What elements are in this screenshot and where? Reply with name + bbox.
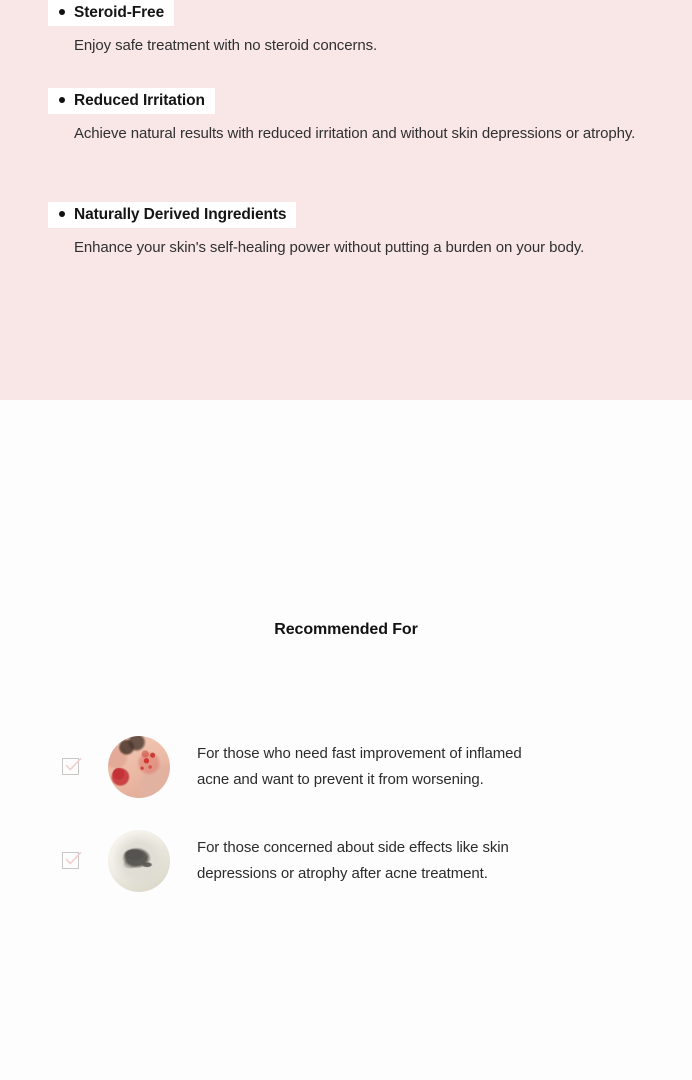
inflamed-acne-face-photo bbox=[108, 736, 170, 798]
benefit-heading-highlight: Steroid-Free bbox=[48, 0, 174, 26]
list-item: For those concerned about side effects l… bbox=[0, 814, 692, 908]
list-item-text-line: acne and want to prevent it from worseni… bbox=[197, 767, 627, 793]
product-detail-page: Steroid-Free Enjoy safe treatment with n… bbox=[0, 0, 692, 1080]
benefit-body-text: Enhance your skin's self-healing power w… bbox=[74, 234, 594, 262]
list-item-text-line: depressions or atrophy after acne treatm… bbox=[197, 861, 627, 887]
benefit-body-text: Enjoy safe treatment with no steroid con… bbox=[74, 32, 690, 60]
recommended-for-section: Recommended For For those who need fast … bbox=[0, 400, 692, 1080]
bullet-dot-icon bbox=[59, 9, 65, 15]
benefit-item: Reduced Irritation Achieve natural resul… bbox=[0, 88, 692, 148]
benefit-heading-label: Reduced Irritation bbox=[74, 91, 205, 110]
benefit-heading-label: Naturally Derived Ingredients bbox=[74, 205, 286, 224]
bullet-dot-icon bbox=[59, 97, 65, 103]
bullet-dot-icon bbox=[59, 211, 65, 217]
benefit-heading-label: Steroid-Free bbox=[74, 3, 164, 22]
recommended-for-list: For those who need fast improvement of i… bbox=[0, 720, 692, 908]
recommended-for-title: Recommended For bbox=[0, 621, 692, 639]
list-item-text: For those concerned about side effects l… bbox=[197, 835, 627, 887]
list-item-text: For those who need fast improvement of i… bbox=[197, 741, 627, 793]
benefit-item: Naturally Derived Ingredients Enhance yo… bbox=[0, 202, 692, 262]
checked-checkbox-icon bbox=[62, 852, 81, 871]
checked-checkbox-icon bbox=[62, 758, 81, 777]
list-item-text-line: For those concerned about side effects l… bbox=[197, 835, 627, 861]
skin-depression-closeup-photo bbox=[108, 830, 170, 892]
benefit-body-text: Achieve natural results with reduced irr… bbox=[74, 120, 690, 148]
benefits-section: Steroid-Free Enjoy safe treatment with n… bbox=[0, 0, 692, 400]
list-item-text-line: For those who need fast improvement of i… bbox=[197, 741, 627, 767]
benefit-item: Steroid-Free Enjoy safe treatment with n… bbox=[0, 0, 692, 60]
benefit-heading-highlight: Naturally Derived Ingredients bbox=[48, 202, 296, 228]
benefit-heading-highlight: Reduced Irritation bbox=[48, 88, 215, 114]
list-item: For those who need fast improvement of i… bbox=[0, 720, 692, 814]
